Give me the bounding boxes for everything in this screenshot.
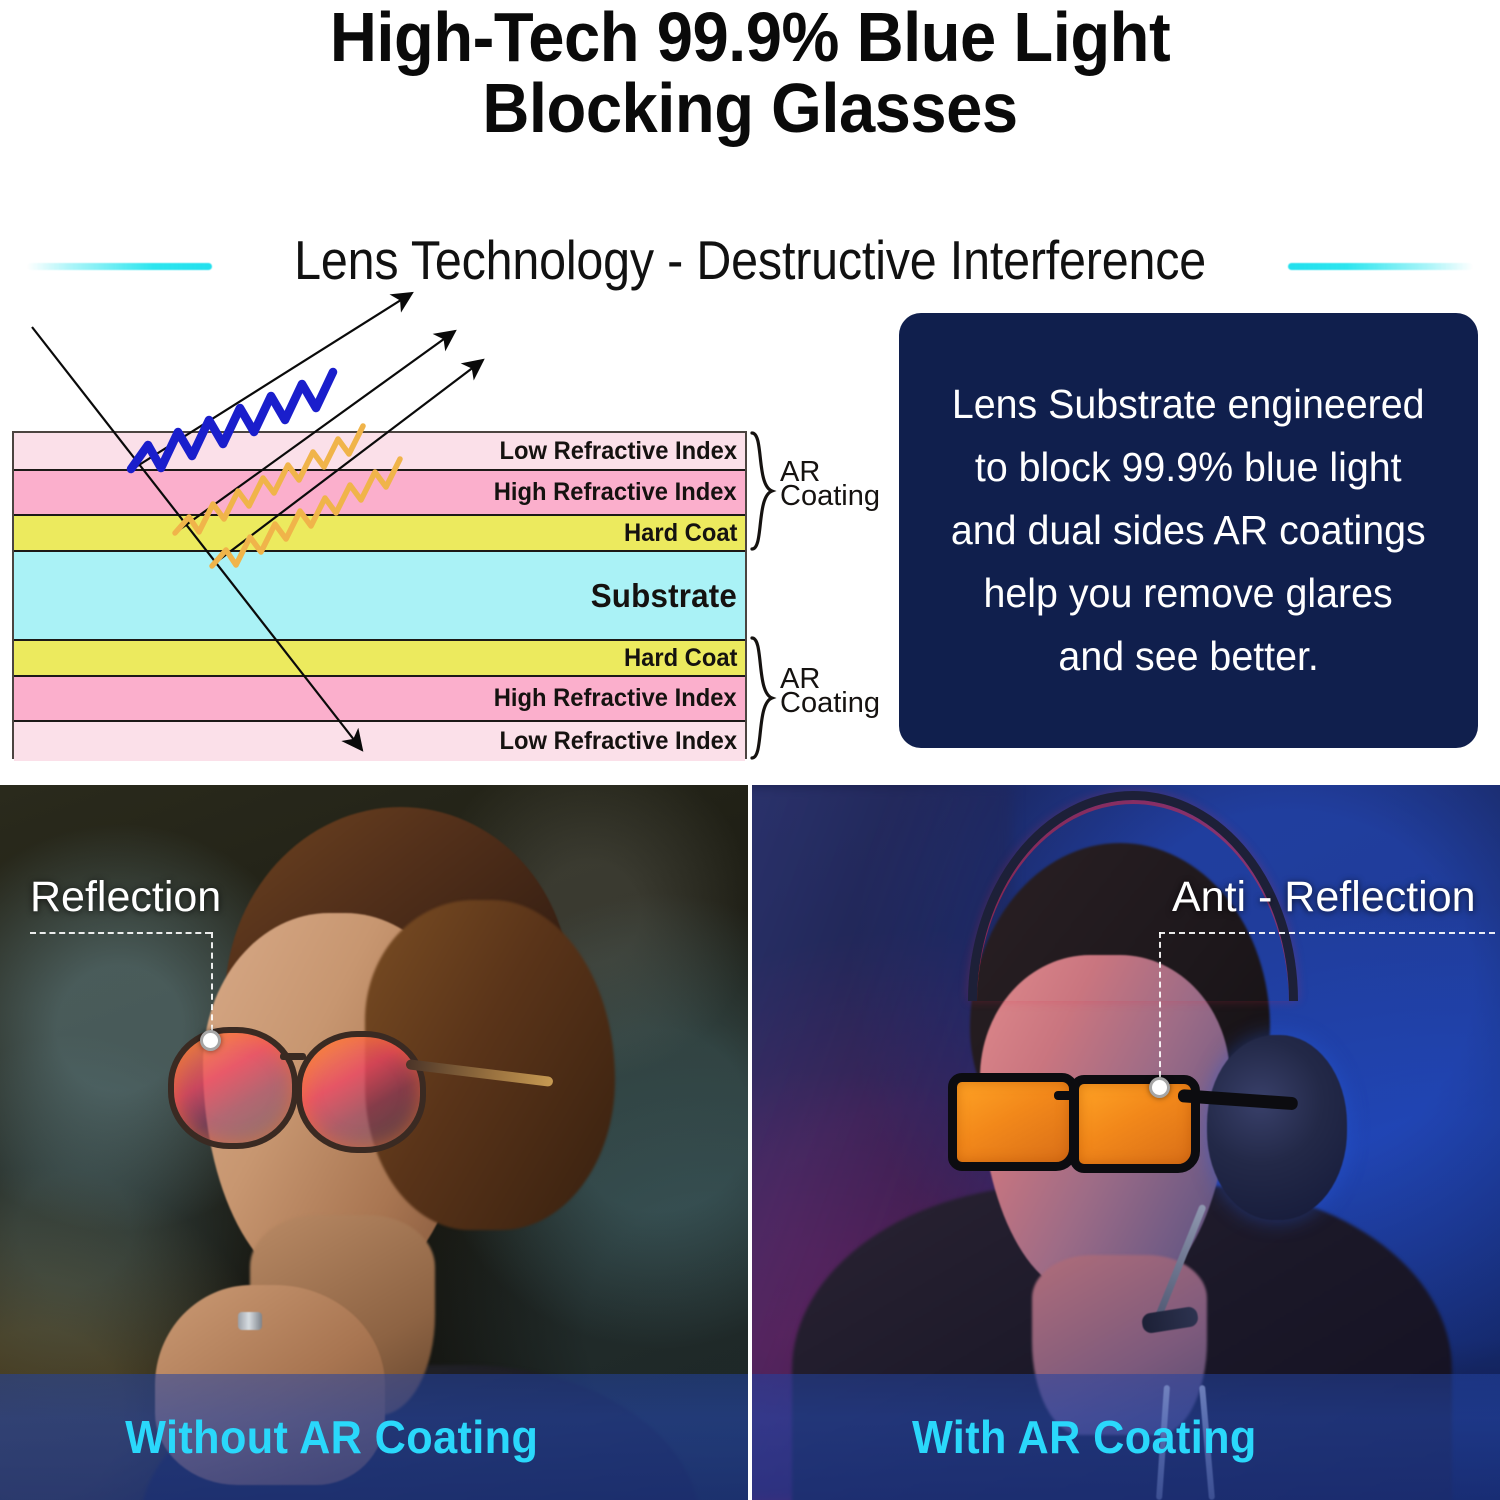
photo-panel-with-ar: Anti - Reflection With AR Coating	[752, 785, 1500, 1500]
lens-layer-diagram: Low Refractive Index High Refractive Ind…	[0, 285, 890, 770]
caption-with-ar-coating: With AR Coating	[912, 1410, 1257, 1464]
layer-stack: Low Refractive Index High Refractive Ind…	[12, 431, 747, 759]
caption-without-ar-coating: Without AR Coating	[125, 1410, 538, 1464]
brace-bottom-icon	[748, 636, 780, 760]
annotation-leader-vertical	[211, 932, 213, 1041]
annotation-leader-horizontal	[1159, 932, 1495, 934]
layer-hard-coat-top: Hard Coat	[14, 516, 745, 552]
layer-label: High Refractive Index	[494, 478, 737, 507]
info-line-2: to block 99.9% blue light	[975, 447, 1402, 488]
layer-label: Low Refractive Index	[499, 727, 737, 756]
layer-label: Hard Coat	[624, 519, 737, 548]
annotation-label-anti-reflection: Anti - Reflection	[1172, 873, 1476, 922]
subtitle: Lens Technology - Destructive Interferen…	[289, 228, 1211, 292]
photo-comparison: Reflection Without AR Coating	[0, 785, 1500, 1500]
annotation-leader-vertical	[1159, 932, 1161, 1087]
ar-label-line-2: Coating	[780, 485, 880, 509]
ar-coating-label-top: AR Coating	[780, 461, 880, 509]
brace-top-icon	[748, 431, 780, 551]
info-line-3: and dual sides AR coatings	[951, 510, 1426, 551]
infographic-page: High-Tech 99.9% Blue Light Blocking Glas…	[0, 0, 1500, 1500]
layer-high-refractive-index-bottom: High Refractive Index	[14, 677, 745, 722]
annotation-marker-dot	[200, 1030, 221, 1051]
info-line-5: and see better.	[1058, 636, 1318, 677]
layer-high-refractive-index-top: High Refractive Index	[14, 471, 745, 516]
layer-substrate: Substrate	[14, 552, 745, 641]
layer-low-refractive-index-bottom: Low Refractive Index	[14, 722, 745, 761]
photo-panel-without-ar: Reflection Without AR Coating	[0, 785, 748, 1500]
layer-label: Hard Coat	[624, 644, 737, 673]
layer-label: Low Refractive Index	[499, 437, 737, 466]
ar-coating-label-bottom: AR Coating	[780, 668, 880, 716]
annotation-label-reflection: Reflection	[30, 873, 221, 922]
divider-right-icon	[1288, 263, 1473, 270]
layer-label: Substrate	[591, 577, 737, 615]
info-line-4: help you remove glares	[984, 573, 1393, 614]
caption-band-with-ar: With AR Coating	[752, 1374, 1500, 1500]
page-title-line-2: Blocking Glasses	[53, 73, 1448, 144]
layer-low-refractive-index-top: Low Refractive Index	[14, 433, 745, 471]
info-callout-box: Lens Substrate engineered to block 99.9%…	[899, 313, 1478, 748]
divider-left-icon	[27, 263, 212, 270]
layer-hard-coat-bottom: Hard Coat	[14, 641, 745, 677]
annotation-leader-horizontal	[30, 932, 211, 934]
ar-label-line-2: Coating	[780, 692, 880, 716]
caption-band-without-ar: Without AR Coating	[0, 1374, 748, 1500]
layer-label: High Refractive Index	[494, 684, 737, 713]
annotation-marker-dot	[1149, 1077, 1170, 1098]
page-title-line-1: High-Tech 99.9% Blue Light	[53, 2, 1448, 73]
page-title: High-Tech 99.9% Blue Light Blocking Glas…	[53, 2, 1448, 145]
info-line-1: Lens Substrate engineered	[952, 384, 1425, 425]
